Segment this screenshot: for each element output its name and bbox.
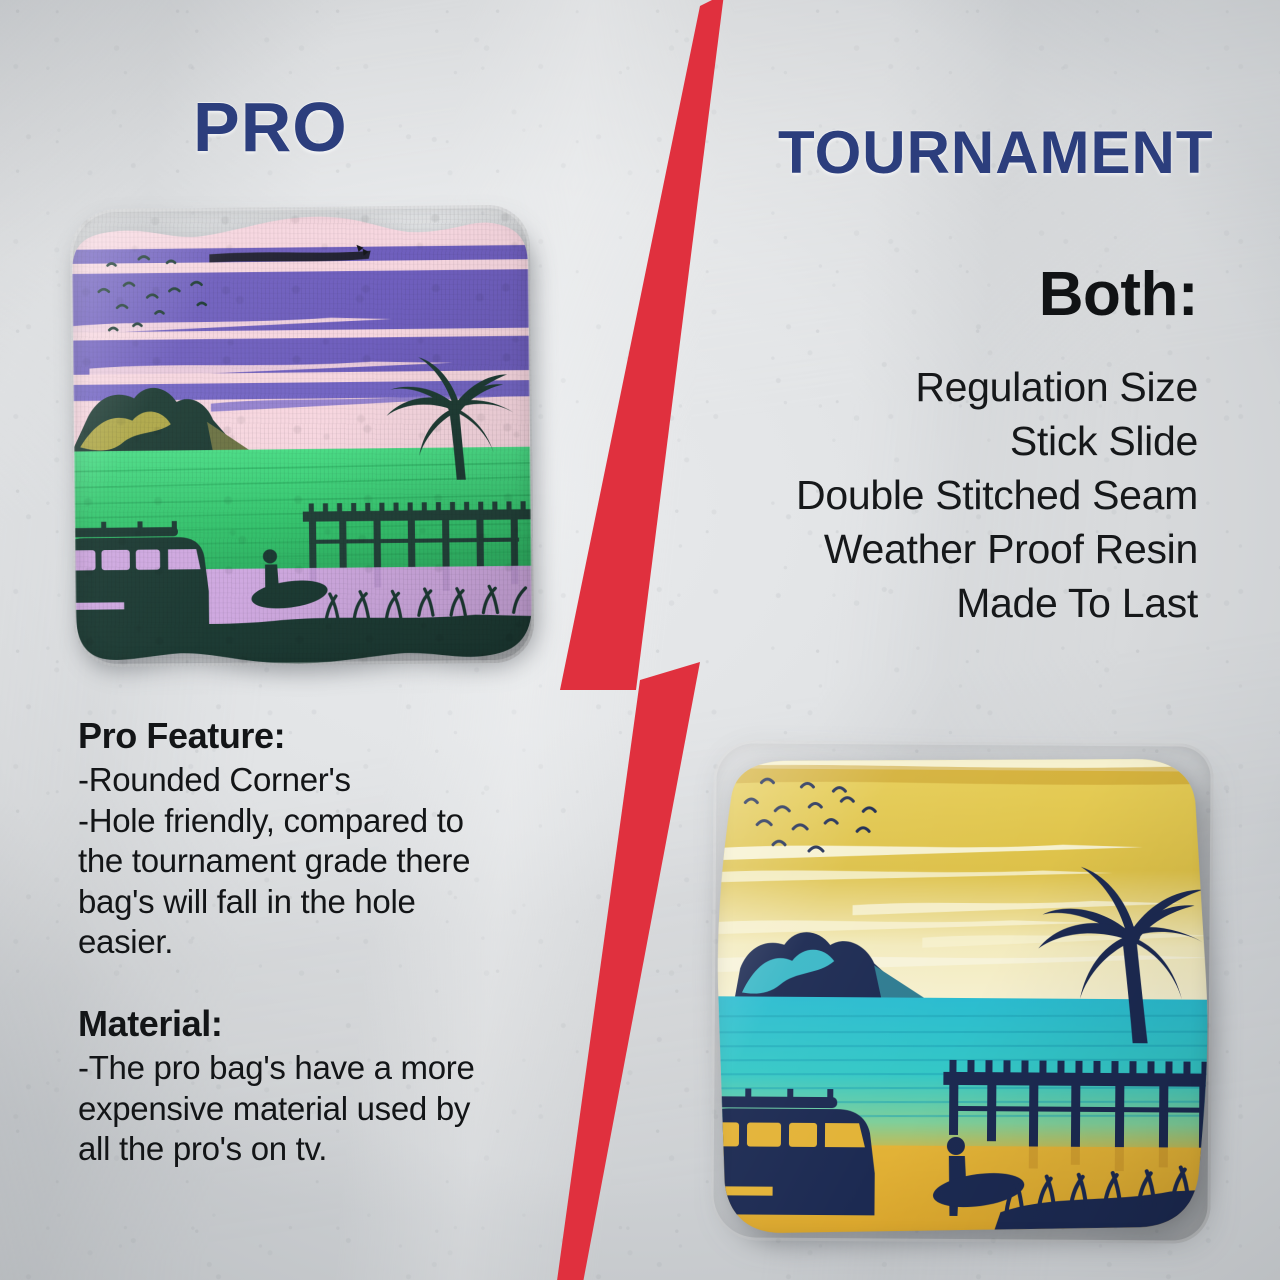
material-body: -The pro bag's have a more expensive mat… — [78, 1048, 482, 1170]
material-heading: Material: — [78, 1003, 482, 1045]
pro-bag-grunge-texture — [70, 205, 535, 668]
tournament-bag-artwork — [710, 740, 1213, 1243]
pro-feature-body: -Rounded Corner's-Hole friendly, compare… — [78, 760, 482, 963]
both-feature-item: Double Stitched Seam — [796, 468, 1198, 522]
both-feature-item: Made To Last — [796, 576, 1198, 630]
both-feature-list: Regulation SizeStick SlideDouble Stitche… — [796, 360, 1198, 630]
material-block: Material: -The pro bag's have a more exp… — [78, 1003, 482, 1170]
pro-feature-heading: Pro Feature: — [78, 715, 482, 757]
infographic-canvas: PRO TOURNAMENT Both: Regulation SizeStic… — [0, 0, 1280, 1280]
both-heading: Both: — [1039, 264, 1198, 326]
both-feature-item: Stick Slide — [796, 414, 1198, 468]
pro-feature-block: Pro Feature: -Rounded Corner's-Hole frie… — [78, 715, 482, 963]
page-title-pro: PRO — [193, 92, 348, 162]
page-title-tournament: TOURNAMENT — [778, 123, 1214, 183]
pro-cornhole-bag — [70, 205, 535, 668]
both-feature-item: Weather Proof Resin — [796, 522, 1198, 576]
both-feature-item: Regulation Size — [796, 360, 1198, 414]
tournament-cornhole-bag — [710, 740, 1213, 1243]
